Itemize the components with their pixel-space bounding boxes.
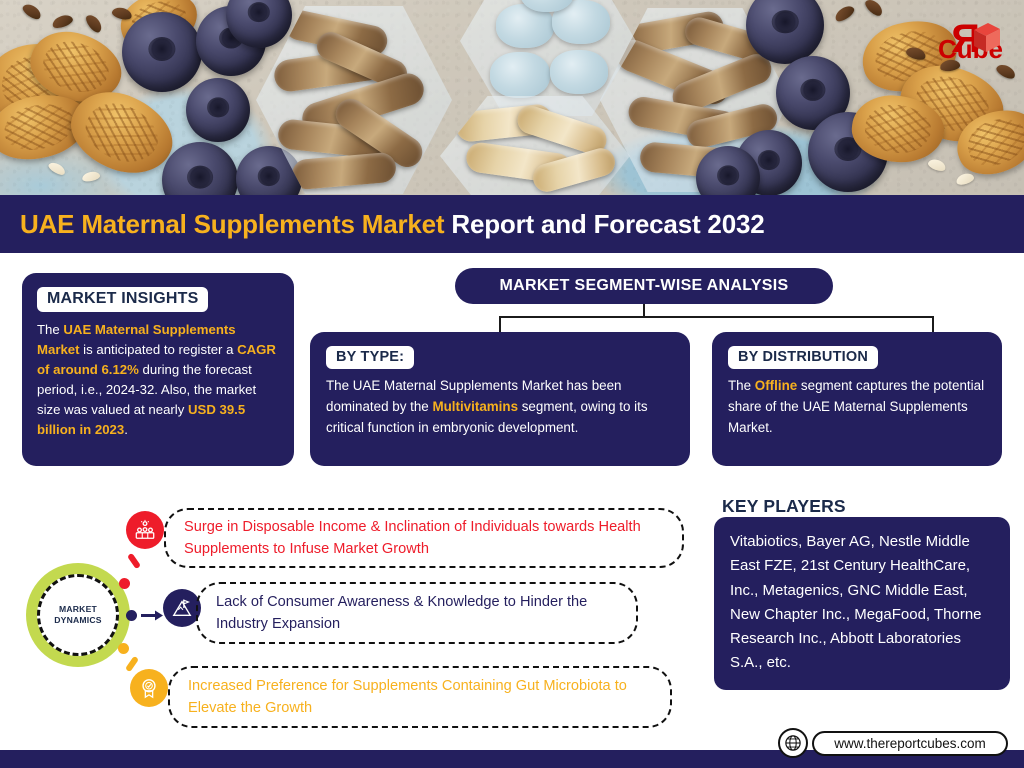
- dynamics-link-2: [141, 610, 163, 621]
- market-insights-heading: MARKET INSIGHTS: [37, 287, 208, 312]
- dynamics-box-3: Increased Preference for Supplements Con…: [168, 666, 672, 728]
- market-insights-card: MARKET INSIGHTS The UAE Maternal Supplem…: [22, 273, 294, 466]
- connector-vertical-right: [932, 316, 934, 333]
- dynamics-link-1: [127, 553, 141, 570]
- dynamics-node-dot-2: [126, 610, 137, 621]
- page-title-rest: Report and Forecast 2032: [444, 209, 764, 239]
- dynamics-box-2: Lack of Consumer Awareness & Knowledge t…: [196, 582, 638, 644]
- market-dynamics-wheel: MARKETDYNAMICS: [26, 563, 130, 667]
- dynamics-box-2-text: Lack of Consumer Awareness & Knowledge t…: [216, 591, 618, 635]
- page-title: UAE Maternal Supplements Market Report a…: [0, 209, 764, 240]
- by-type-bold1: Multivitamins: [432, 399, 518, 414]
- by-distribution-heading: BY DISTRIBUTION: [728, 346, 878, 369]
- by-type-card: BY TYPE: The UAE Maternal Supplements Ma…: [310, 332, 690, 466]
- award-ribbon-icon: [138, 677, 160, 699]
- key-players-card: Vitabiotics, Bayer AG, Nestle Middle Eas…: [714, 517, 1010, 690]
- connector-horizontal: [499, 316, 934, 318]
- connector-vertical-left: [499, 316, 501, 333]
- blueberry: [186, 78, 250, 142]
- dynamics-box-1-text: Surge in Disposable Income & Inclination…: [184, 516, 664, 560]
- segment-analysis-banner: MARKET SEGMENT-WISE ANALYSIS: [455, 268, 833, 304]
- people-group-icon: [134, 519, 156, 541]
- dynamics-label-line1: MARKET: [59, 604, 97, 614]
- dynamics-link-3: [125, 656, 139, 673]
- arrow-right-icon: [141, 610, 163, 621]
- by-distribution-card: BY DISTRIBUTION The Offline segment capt…: [712, 332, 1002, 466]
- dynamics-box-1: Surge in Disposable Income & Inclination…: [164, 508, 684, 568]
- by-type-heading: BY TYPE:: [326, 346, 414, 369]
- dynamics-icon-3: [130, 669, 168, 707]
- infographic-body: MARKET INSIGHTS The UAE Maternal Supplem…: [0, 253, 1024, 750]
- page-title-bar: UAE Maternal Supplements Market Report a…: [0, 195, 1024, 253]
- key-players-heading: KEY PLAYERS: [722, 496, 846, 517]
- dynamics-box-3-text: Increased Preference for Supplements Con…: [188, 675, 652, 719]
- globe-icon: [784, 734, 802, 752]
- insights-part4: .: [124, 422, 128, 437]
- flag-mountain-icon: [171, 597, 193, 619]
- blueberry: [122, 12, 202, 92]
- website-url[interactable]: www.thereportcubes.com: [812, 731, 1008, 756]
- market-dynamics-center: MARKETDYNAMICS: [37, 574, 119, 656]
- dynamics-label-line2: DYNAMICS: [54, 615, 101, 625]
- market-insights-text: The UAE Maternal Supplements Market is a…: [37, 320, 279, 440]
- dynamics-icon-1: [126, 511, 164, 549]
- by-distribution-text: The Offline segment captures the potenti…: [728, 376, 988, 438]
- dynamics-node-dot-1: [119, 578, 130, 589]
- dynamics-node-dot-3: [118, 643, 129, 654]
- by-dist-bold1: Offline: [755, 378, 797, 393]
- brand-logo[interactable]: R Cube: [900, 10, 1008, 68]
- insights-part2: is anticipated to register a: [80, 342, 238, 357]
- page-title-highlight: UAE Maternal Supplements Market: [20, 209, 444, 239]
- hero-image: R Cube: [0, 0, 1024, 196]
- reversed-r-cube-logo-icon: R Cube: [900, 10, 1008, 68]
- by-type-text: The UAE Maternal Supplements Market has …: [326, 376, 676, 438]
- insights-part1: The: [37, 322, 63, 337]
- by-dist-part1: The: [728, 378, 755, 393]
- globe-button[interactable]: [778, 728, 808, 758]
